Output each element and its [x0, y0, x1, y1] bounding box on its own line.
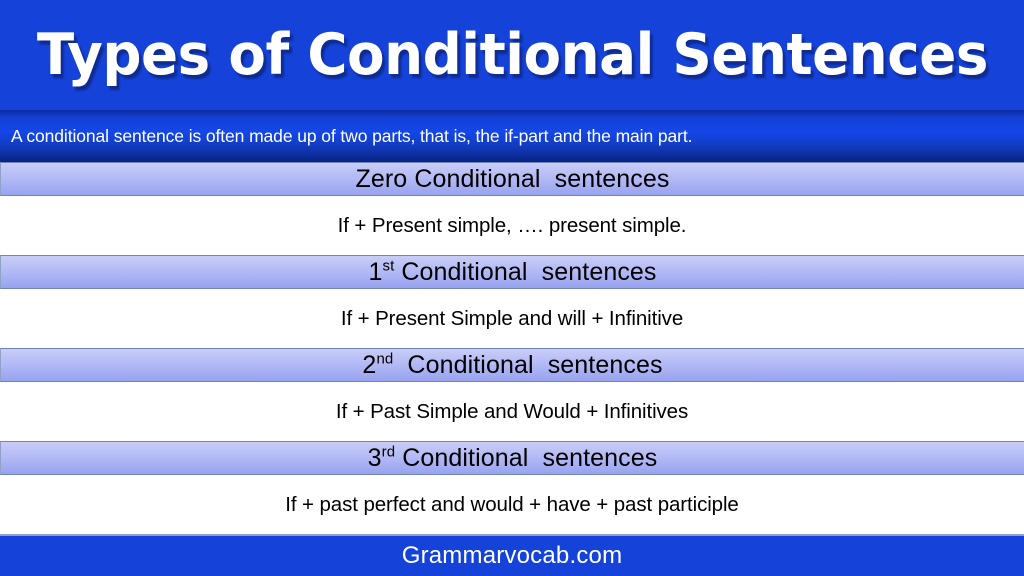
row-ordinal-suffix-third: rd: [382, 443, 396, 460]
row-header-first: 1st Conditional sentences: [0, 255, 1024, 289]
row-body-zero: If + Present simple, …. present simple.: [0, 196, 1024, 255]
row-ordinal-second: 2: [362, 351, 376, 379]
footer-bar: Grammarvocab.com: [0, 534, 1024, 576]
row-ordinal-suffix-second: nd: [376, 350, 393, 367]
row-header-third: 3rd Conditional sentences: [0, 441, 1024, 475]
row-header-label-first: 1st Conditional sentences: [368, 260, 656, 285]
row-second-conditional: 2nd Conditional sentences If + Past Simp…: [0, 348, 1024, 441]
row-header-second: 2nd Conditional sentences: [0, 348, 1024, 382]
poster: Types of Conditional Sentences A conditi…: [0, 0, 1024, 576]
title-banner: Types of Conditional Sentences: [0, 0, 1024, 110]
conditional-rows: Zero Conditional sentences If + Present …: [0, 162, 1024, 534]
row-body-second: If + Past Simple and Would + Infinitives: [0, 382, 1024, 441]
row-heading-rest-zero: Conditional sentences: [407, 165, 669, 193]
row-heading-rest-third: Conditional sentences: [395, 444, 657, 472]
row-header-label-second: 2nd Conditional sentences: [362, 353, 662, 378]
page-title: Types of Conditional Sentences: [36, 27, 987, 84]
row-ordinal-third: 3: [368, 444, 382, 472]
subtitle-text: A conditional sentence is often made up …: [0, 126, 692, 147]
row-formula-first: If + Present Simple and will + Infinitiv…: [341, 307, 683, 331]
row-body-first: If + Present Simple and will + Infinitiv…: [0, 289, 1024, 348]
row-formula-zero: If + Present simple, …. present simple.: [338, 214, 687, 238]
row-formula-third: If + past perfect and would + have + pas…: [285, 493, 739, 517]
row-third-conditional: 3rd Conditional sentences If + past perf…: [0, 441, 1024, 534]
subtitle-bar: A conditional sentence is often made up …: [0, 110, 1024, 162]
row-ordinal-suffix-first: st: [382, 257, 394, 274]
row-heading-rest-second: Conditional sentences: [393, 351, 662, 379]
row-header-label-third: 3rd Conditional sentences: [368, 446, 658, 471]
row-heading-rest-first: Conditional sentences: [394, 258, 656, 286]
row-first-conditional: 1st Conditional sentences If + Present S…: [0, 255, 1024, 348]
row-header-label-zero: Zero Conditional sentences: [356, 167, 670, 192]
row-ordinal-zero: Zero: [356, 165, 408, 193]
row-header-zero: Zero Conditional sentences: [0, 162, 1024, 196]
row-formula-second: If + Past Simple and Would + Infinitives: [336, 400, 688, 424]
row-body-third: If + past perfect and would + have + pas…: [0, 475, 1024, 534]
site-credit: Grammarvocab.com: [402, 542, 623, 570]
row-ordinal-first: 1: [368, 258, 382, 286]
row-zero-conditional: Zero Conditional sentences If + Present …: [0, 162, 1024, 255]
